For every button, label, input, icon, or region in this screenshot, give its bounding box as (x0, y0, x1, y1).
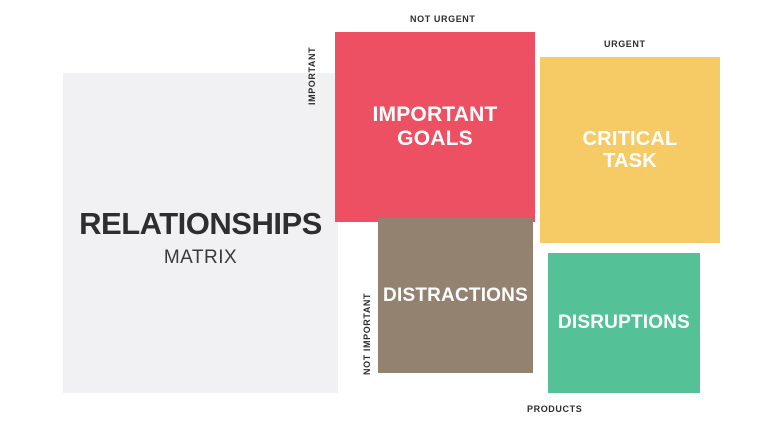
quadrant-critical-task[interactable]: CRITICAL TASK (540, 57, 720, 243)
axis-label-urgent: URGENT (604, 39, 646, 49)
quadrant-label-line1: DISTRACTIONS (383, 285, 528, 306)
quadrant-label-disruptions: DISRUPTIONS (558, 312, 690, 333)
axis-label-important: IMPORTANT (307, 47, 317, 105)
relationships-matrix-infographic: RELATIONSHIPS MATRIX IMPORTANT GOALS CRI… (0, 0, 780, 438)
page-subtitle: MATRIX (63, 247, 338, 269)
axis-label-not-important: NOT IMPORTANT (362, 293, 372, 375)
quadrant-label-important-goals: IMPORTANT GOALS (372, 103, 497, 150)
quadrant-label-line2: TASK (583, 150, 678, 172)
quadrant-label-line2: GOALS (372, 127, 497, 151)
quadrant-label-line1: IMPORTANT (372, 103, 497, 127)
page-title: RELATIONSHIPS (63, 208, 338, 241)
quadrant-distractions[interactable]: DISTRACTIONS (378, 218, 533, 373)
quadrant-label-line1: DISRUPTIONS (558, 312, 690, 333)
info-panel: RELATIONSHIPS MATRIX (63, 73, 338, 393)
quadrant-label-distractions: DISTRACTIONS (383, 285, 528, 306)
quadrant-label-line1: CRITICAL (583, 128, 678, 150)
axis-label-products: PRODUCTS (527, 404, 582, 414)
quadrant-label-critical-task: CRITICAL TASK (583, 128, 678, 173)
quadrant-disruptions[interactable]: DISRUPTIONS (548, 253, 700, 393)
title-block: RELATIONSHIPS MATRIX (63, 208, 338, 269)
axis-label-not-urgent: NOT URGENT (410, 14, 476, 24)
quadrant-important-goals[interactable]: IMPORTANT GOALS (335, 32, 535, 222)
